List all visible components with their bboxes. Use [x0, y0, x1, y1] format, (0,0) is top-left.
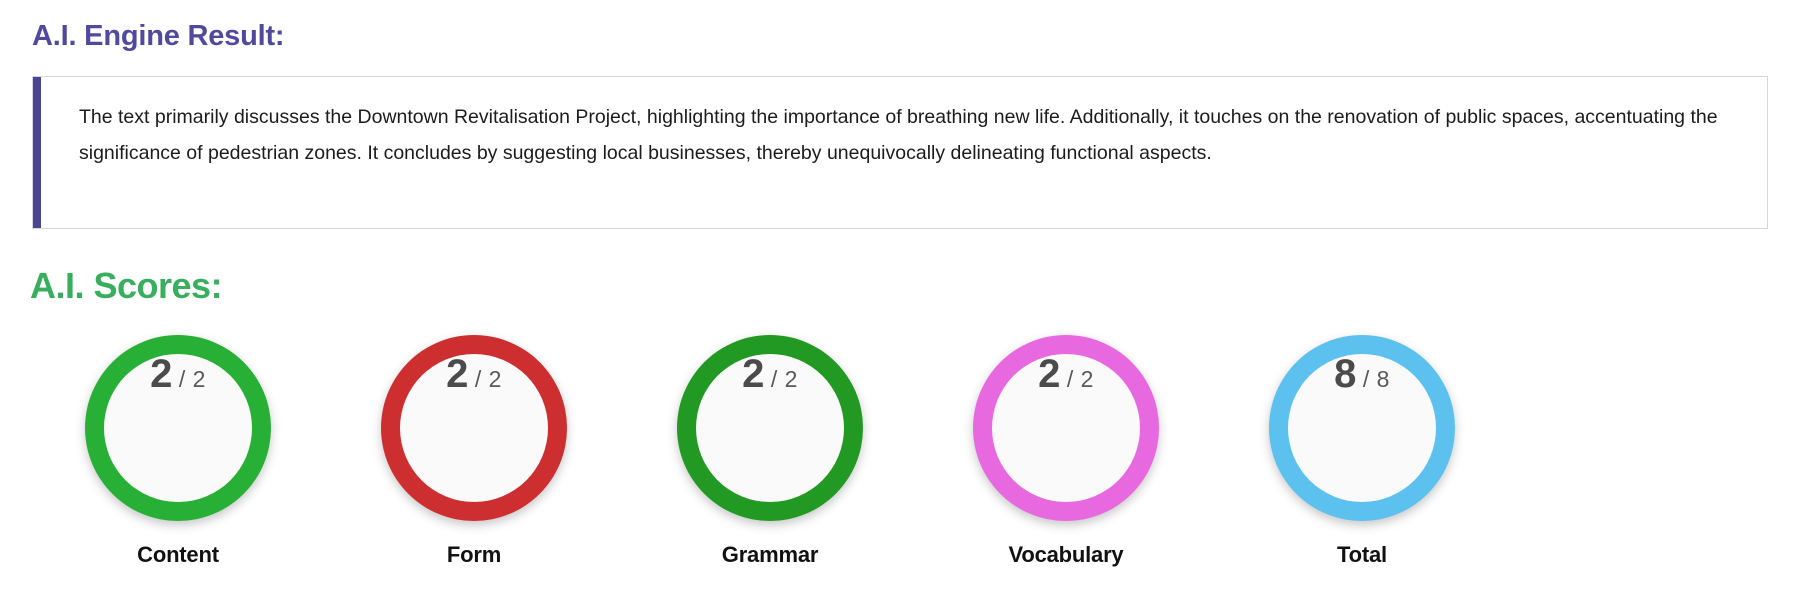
- score-ring-form: 2 / 2: [381, 335, 567, 521]
- result-accent-bar: [33, 77, 41, 228]
- score-inner-grammar: 2 / 2: [696, 354, 844, 502]
- score-ring-content: 2 / 2: [85, 335, 271, 521]
- score-item-content: 2 / 2 Content: [30, 335, 326, 568]
- engine-result-box: The text primarily discusses the Downtow…: [32, 76, 1768, 229]
- score-value: 2: [150, 354, 172, 394]
- ai-feedback-panel: A.I. Engine Result: The text primarily d…: [0, 0, 1800, 600]
- score-value: 2: [742, 354, 764, 394]
- score-inner-vocabulary: 2 / 2: [992, 354, 1140, 502]
- score-label: Vocabulary: [1009, 542, 1124, 568]
- score-inner-form: 2 / 2: [400, 354, 548, 502]
- score-value: 2: [446, 354, 468, 394]
- score-label: Grammar: [722, 542, 818, 568]
- score-inner-content: 2 / 2: [104, 354, 252, 502]
- score-item-vocabulary: 2 / 2 Vocabulary: [918, 335, 1214, 568]
- score-label: Form: [447, 542, 501, 568]
- scores-heading: A.I. Scores:: [30, 265, 222, 307]
- score-label: Total: [1337, 542, 1387, 568]
- score-ring-vocabulary: 2 / 2: [973, 335, 1159, 521]
- score-out-of: / 8: [1363, 368, 1390, 391]
- score-value: 2: [1038, 354, 1060, 394]
- result-text-container: The text primarily discusses the Downtow…: [41, 77, 1767, 228]
- score-circles-row: 2 / 2 Content 2 / 2 Form 2 / 2: [30, 335, 1470, 580]
- score-value: 8: [1334, 354, 1356, 394]
- score-item-form: 2 / 2 Form: [326, 335, 622, 568]
- score-item-grammar: 2 / 2 Grammar: [622, 335, 918, 568]
- score-ring-grammar: 2 / 2: [677, 335, 863, 521]
- score-out-of: / 2: [771, 368, 798, 391]
- score-ring-total: 8 / 8: [1269, 335, 1455, 521]
- score-out-of: / 2: [179, 368, 206, 391]
- score-label: Content: [137, 542, 219, 568]
- score-out-of: / 2: [475, 368, 502, 391]
- score-inner-total: 8 / 8: [1288, 354, 1436, 502]
- engine-result-heading: A.I. Engine Result:: [32, 20, 284, 53]
- score-out-of: / 2: [1067, 368, 1094, 391]
- engine-result-text: The text primarily discusses the Downtow…: [79, 99, 1743, 171]
- score-item-total: 8 / 8 Total: [1214, 335, 1510, 568]
